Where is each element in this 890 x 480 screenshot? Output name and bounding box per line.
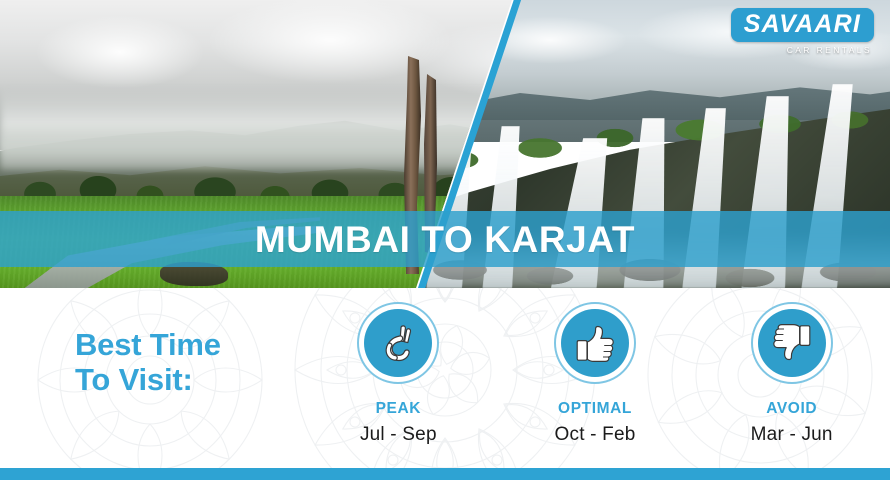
best-time-heading: Best Time To Visit:	[75, 328, 295, 397]
title-band: MUMBAI TO KARJAT	[0, 211, 890, 267]
infographic-canvas: SAVAARI CAR RENTALS MUMBAI TO KARJAT	[0, 0, 890, 480]
icon-ring	[751, 302, 833, 384]
logo-wordmark: SAVAARI	[744, 12, 861, 37]
best-time-section: Best Time To Visit:	[0, 288, 890, 468]
icon-circle	[364, 309, 432, 377]
best-time-line-2: To Visit:	[75, 363, 295, 398]
footer-accent-bar	[0, 468, 890, 480]
season-range: Jul - Sep	[360, 424, 437, 446]
icon-circle	[561, 309, 629, 377]
logo-tagline: CAR RENTALS	[731, 45, 872, 55]
icon-ring	[554, 302, 636, 384]
season-card-avoid[interactable]: AVOID Mar - Jun	[693, 288, 890, 468]
season-card-list: PEAK Jul - Sep	[300, 288, 890, 468]
savaari-logo[interactable]: SAVAARI CAR RENTALS	[731, 8, 874, 55]
season-title: OPTIMAL	[558, 400, 632, 418]
season-card-optimal[interactable]: OPTIMAL Oct - Feb	[497, 288, 694, 468]
icon-ring	[357, 302, 439, 384]
icon-circle	[758, 309, 826, 377]
season-title: PEAK	[376, 400, 421, 418]
thumbs-up-icon	[574, 323, 616, 363]
logo-plate: SAVAARI	[731, 8, 874, 42]
hero-banner: SAVAARI CAR RENTALS MUMBAI TO KARJAT	[0, 0, 890, 288]
best-time-line-1: Best Time	[75, 328, 295, 363]
season-card-peak[interactable]: PEAK Jul - Sep	[300, 288, 497, 468]
season-range: Oct - Feb	[555, 424, 636, 446]
ok-hand-icon	[378, 322, 418, 364]
season-range: Mar - Jun	[751, 424, 833, 446]
thumbs-down-icon	[771, 323, 813, 363]
page-title: MUMBAI TO KARJAT	[255, 221, 635, 258]
season-title: AVOID	[766, 400, 817, 418]
